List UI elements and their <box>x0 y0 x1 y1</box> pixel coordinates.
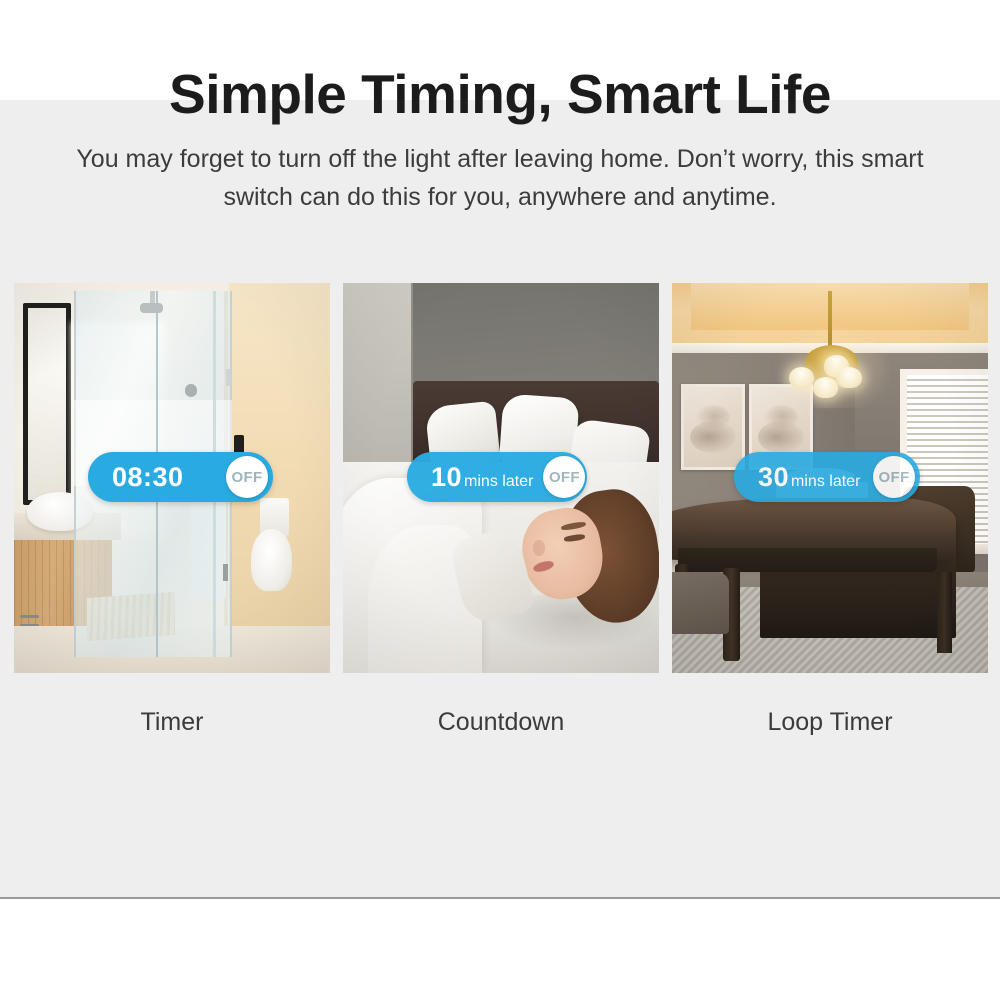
framed-artwork <box>681 384 744 470</box>
timer-badge-text: 08:30 <box>112 464 216 491</box>
loop-timer-badge-text: 30 mins later <box>758 464 863 491</box>
loop-timer-toggle-knob[interactable]: OFF <box>873 456 915 498</box>
timer-toggle-label: OFF <box>232 469 263 486</box>
countdown-toggle-label: OFF <box>549 469 580 486</box>
loop-timer-toggle-label: OFF <box>879 469 910 486</box>
page-subtitle: You may forget to turn off the light aft… <box>60 140 940 216</box>
product-feature-page: Simple Timing, Smart Life You may forget… <box>0 0 1000 1000</box>
countdown-badge-value: 10 <box>431 464 462 491</box>
feature-panel-timer[interactable]: 08:30 OFF <box>14 283 330 673</box>
feature-caption-row: Timer Countdown Loop Timer <box>14 708 988 737</box>
caption-loop-timer: Loop Timer <box>672 708 988 737</box>
timer-toggle-knob[interactable]: OFF <box>226 456 268 498</box>
timer-badge-value: 08:30 <box>112 464 184 491</box>
countdown-badge[interactable]: 10 mins later OFF <box>407 452 587 502</box>
countdown-toggle-knob[interactable]: OFF <box>543 456 585 498</box>
page-title: Simple Timing, Smart Life <box>0 62 1000 126</box>
bathroom-toilet <box>251 529 292 591</box>
chandelier-bulb <box>836 367 861 388</box>
caption-countdown: Countdown <box>343 708 659 737</box>
chandelier-bulb <box>813 377 838 398</box>
feature-panel-row: 08:30 OFF <box>14 283 988 673</box>
feature-panel-countdown[interactable]: 10 mins later OFF <box>343 283 659 673</box>
countdown-badge-unit: mins later <box>464 474 533 490</box>
loop-timer-badge-value: 30 <box>758 464 789 491</box>
timer-badge[interactable]: 08:30 OFF <box>88 452 273 502</box>
feature-panel-loop-timer[interactable]: 30 mins later OFF <box>672 283 988 673</box>
countdown-badge-text: 10 mins later <box>431 464 533 491</box>
chandelier-bulb <box>789 367 814 388</box>
loop-timer-badge-unit: mins later <box>791 474 860 490</box>
loop-timer-badge[interactable]: 30 mins later OFF <box>734 452 920 502</box>
bathroom-showerhead <box>140 303 162 313</box>
caption-timer: Timer <box>14 708 330 737</box>
